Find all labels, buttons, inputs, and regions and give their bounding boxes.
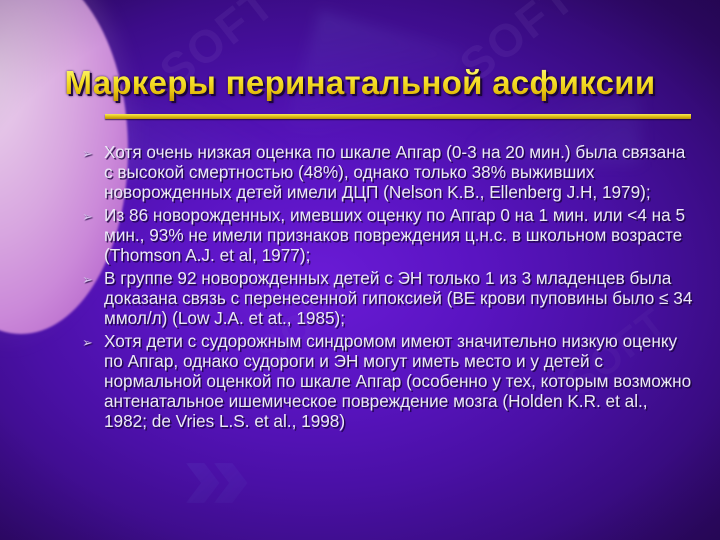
list-item-text: В группе 92 новорожденных детей с ЭН тол… — [104, 268, 694, 328]
list-item-text: Хотя очень низкая оценка по шкале Апгар … — [104, 142, 694, 202]
slide-title-container: Маркеры перинатальной асфиксии — [0, 66, 720, 101]
arrow-bullet-icon: ➢ — [82, 268, 104, 286]
list-item: ➢ Из 86 новорожденных, имевших оценку по… — [82, 205, 694, 265]
list-item-text: Из 86 новорожденных, имевших оценку по А… — [104, 205, 694, 265]
bullet-list: ➢ Хотя очень низкая оценка по шкале Апга… — [82, 142, 694, 434]
chevron-watermark-icon — [186, 452, 240, 514]
presentation-slide: SOFT SOFT SOFT SOFT Маркеры перинатально… — [0, 0, 720, 540]
list-item: ➢ Хотя дети с судорожным синдромом имеют… — [82, 331, 694, 431]
list-item: ➢ Хотя очень низкая оценка по шкале Апга… — [82, 142, 694, 202]
arrow-bullet-icon: ➢ — [82, 205, 104, 223]
chevron-watermark-icon-2 — [214, 452, 268, 514]
slide-title: Маркеры перинатальной асфиксии — [65, 66, 656, 101]
list-item: ➢ В группе 92 новорожденных детей с ЭН т… — [82, 268, 694, 328]
arrow-bullet-icon: ➢ — [82, 142, 104, 160]
list-item-text: Хотя дети с судорожным синдромом имеют з… — [104, 331, 694, 431]
arrow-bullet-icon: ➢ — [82, 331, 104, 349]
title-divider-rule — [105, 114, 691, 119]
